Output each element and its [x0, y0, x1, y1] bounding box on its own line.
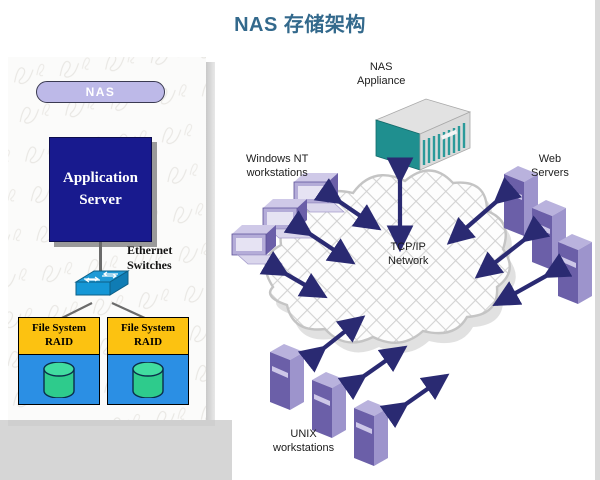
storage-box-2-header: File System RAID: [108, 318, 188, 355]
windows-nt-label: Windows NT workstations: [246, 152, 308, 181]
ethernet-switches-label: Ethernet Switches: [127, 243, 172, 273]
storage-box-2-line2: RAID: [134, 336, 162, 350]
nas-badge-label: NAS: [86, 85, 116, 99]
disk-cylinder-icon: [130, 362, 166, 398]
nas-badge: NAS: [36, 81, 165, 103]
page-title: NAS 存储架构: [0, 8, 600, 37]
unix-label-line2: workstations: [273, 441, 334, 455]
left-panel-shadow-bottom: [8, 420, 215, 426]
cloud-label-line1: TCP/IP: [388, 240, 428, 254]
cloud-label: TCP/IP Network: [388, 240, 428, 269]
network-diagram: NAS Appliance Windows NT workstations We…: [228, 52, 596, 472]
left-architecture-panel: NAS Application Server Ethernet Switches: [8, 57, 206, 420]
storage-box-2-body: [108, 355, 188, 404]
storage-box-1-header: File System RAID: [19, 318, 99, 355]
storage-box-2-line1: File System: [121, 322, 175, 336]
web-servers-icons: [504, 166, 592, 304]
application-server-box: Application Server: [49, 137, 152, 242]
web-servers-label: Web Servers: [531, 152, 569, 181]
nas-appliance-label: NAS Appliance: [357, 60, 405, 89]
left-panel-shadow: [206, 62, 215, 425]
storage-box-1-line1: File System: [32, 322, 86, 336]
storage-box-1-body: [19, 355, 99, 404]
unix-label-line1: UNIX: [273, 427, 334, 441]
slide-canvas: NAS 存储架构 NAS Application Server: [0, 0, 600, 480]
application-server-line1: Application: [63, 168, 138, 190]
nas-appliance-label-line2: Appliance: [357, 74, 405, 88]
nas-appliance-icon: [376, 99, 470, 170]
cloud-label-line2: Network: [388, 254, 428, 268]
disk-cylinder-icon: [41, 362, 77, 398]
ethernet-label-line1: Ethernet: [127, 243, 172, 258]
windows-nt-label-line1: Windows NT: [246, 152, 308, 166]
unix-workstations-label: UNIX workstations: [273, 427, 334, 456]
storage-box-1: File System RAID: [18, 317, 100, 405]
application-server-line2: Server: [79, 190, 121, 212]
windows-nt-label-line2: workstations: [246, 166, 308, 180]
nas-appliance-label-line1: NAS: [357, 60, 405, 74]
background-strip-bottom: [0, 420, 232, 480]
storage-box-1-line2: RAID: [45, 336, 73, 350]
ethernet-label-line2: Switches: [127, 258, 172, 273]
storage-box-2: File System RAID: [107, 317, 189, 405]
web-servers-label-line2: Servers: [531, 166, 569, 180]
web-servers-label-line1: Web: [531, 152, 569, 166]
